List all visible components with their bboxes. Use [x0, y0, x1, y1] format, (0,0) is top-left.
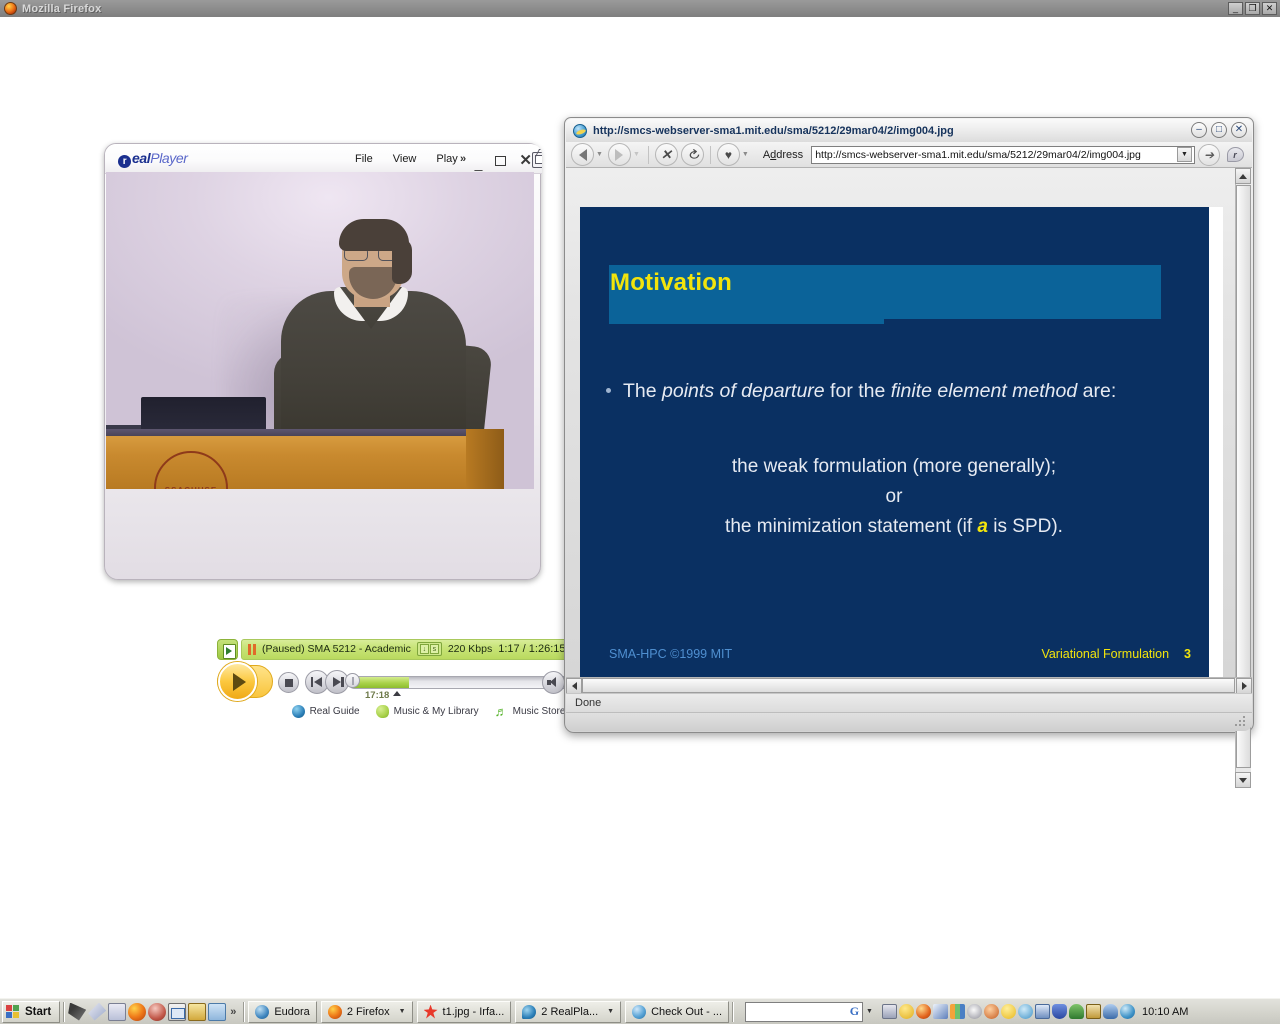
codec-badge-audio: s: [430, 644, 439, 654]
netscape-icon[interactable]: [88, 1003, 106, 1021]
seek-slider-handle[interactable]: [345, 673, 360, 688]
viewer-window-footer: [566, 713, 1252, 731]
taskbar-task-list: Eudora 2 Firefox ▼ t1.jpg - Irfa... 2 Re…: [248, 1001, 729, 1023]
link-real-guide[interactable]: Real Guide: [292, 705, 360, 718]
music-note-icon: ♬: [495, 705, 508, 718]
bullet-mid: for the: [825, 380, 891, 402]
network-icon[interactable]: [882, 1004, 897, 1019]
play-button[interactable]: [218, 662, 257, 701]
realplayer-logo-player: Player: [150, 150, 187, 166]
google-logo-icon: G: [850, 1004, 859, 1019]
stop-button[interactable]: ✕: [655, 143, 678, 166]
scroll-down-button[interactable]: [1235, 772, 1251, 788]
link-real-guide-label: Real Guide: [310, 706, 360, 717]
quick-launch-bar: [68, 1003, 226, 1021]
search-input[interactable]: G: [745, 1002, 863, 1022]
viewer-status-bar: Done: [566, 693, 1252, 713]
windows-taskbar: Start » Eudora 2 Firefox ▼ t1.jpg - Irfa…: [0, 998, 1280, 1024]
realplayer-status-bar: (Paused) SMA 5212 - Academic ↓s 220 Kbps…: [241, 639, 598, 660]
clip-title: SMA 5212 - Academic: [308, 643, 411, 655]
heart-icon: ♥: [725, 148, 732, 162]
maximize-button[interactable]: ❐: [1245, 2, 1260, 15]
viewer-titlebar: http://smcs-webserver-sma1.mit.edu/sma/5…: [566, 119, 1252, 142]
firefox-titlebar: Mozilla Firefox: [0, 0, 1280, 17]
antivirus-icon[interactable]: [1052, 1004, 1067, 1019]
smiley-icon[interactable]: [1001, 1004, 1016, 1019]
slide-title: Motivation: [610, 269, 732, 297]
realplayer-icon: [522, 1005, 536, 1019]
clip-state: (Paused): [262, 643, 305, 655]
maximize-button[interactable]: [495, 156, 506, 166]
menu-view[interactable]: View: [393, 153, 417, 165]
minimize-button[interactable]: –: [1191, 122, 1207, 138]
chart-icon[interactable]: [950, 1004, 965, 1019]
address-dropdown-caret[interactable]: ▼: [1177, 147, 1192, 162]
subline-3-variable: a: [977, 516, 988, 537]
screen-icon[interactable]: [1035, 1004, 1050, 1019]
task-button-irfanview[interactable]: t1.jpg - Irfa...: [417, 1001, 512, 1023]
irfanview-icon: [424, 1005, 438, 1019]
codec-badge-video: ↓: [420, 644, 429, 654]
realplayer-video-surface[interactable]: SSACHUSE: [106, 172, 534, 489]
browser-icon: [573, 124, 587, 138]
slide-sublines: the weak formulation (more generally); o…: [604, 452, 1184, 542]
taskbar-divider-3: [732, 1002, 734, 1022]
task-button-checkout[interactable]: Check Out - ...: [625, 1001, 729, 1023]
go-arrow-icon: ➔: [1204, 148, 1214, 162]
stop-button[interactable]: [278, 672, 299, 693]
monitor-icon[interactable]: [933, 1004, 948, 1019]
flock-icon[interactable]: [68, 1003, 86, 1021]
slide-footer-copyright: SMA-HPC ©1999 MIT: [609, 647, 732, 661]
task-button-irfanview-label: t1.jpg - Irfa...: [443, 1006, 505, 1018]
slide-bullet-text: The points of departure for the finite e…: [606, 376, 1146, 406]
task-group-caret[interactable]: ▼: [399, 1008, 406, 1015]
real-guide-icon: [292, 705, 305, 718]
menu-play[interactable]: Play: [436, 153, 457, 165]
realplayer-titlebar: realPlayer File View Play » _ ✕: [105, 144, 542, 174]
task-button-eudora-label: Eudora: [274, 1006, 309, 1018]
scroll-right-button[interactable]: [1236, 678, 1252, 694]
podium-side: [466, 429, 504, 489]
slide-subline-3: the minimization statement (if a is SPD)…: [604, 512, 1184, 542]
task-group-caret-2[interactable]: ▼: [607, 1008, 614, 1015]
task-button-eudora[interactable]: Eudora: [248, 1001, 316, 1023]
realplayer-logo-mark: r: [118, 155, 131, 168]
firefox-window-buttons[interactable]: _ ❐ ✕: [1228, 2, 1277, 15]
image-viewer-window: http://smcs-webserver-sma1.mit.edu/sma/5…: [564, 117, 1254, 733]
slide-page-number: 3: [1184, 647, 1191, 661]
search-dropdown-caret[interactable]: ▼: [866, 1008, 873, 1015]
subline-3-pre: the minimization statement (if: [725, 516, 977, 537]
person-icon[interactable]: [1103, 1004, 1118, 1019]
close-icon: ✕: [661, 147, 672, 163]
refresh-icon: ↻: [683, 144, 702, 165]
taskbar-divider: [63, 1002, 65, 1022]
clip-info-icon[interactable]: [217, 639, 238, 660]
slide-bullet-item: The points of departure for the finite e…: [606, 376, 1146, 406]
browser-icon[interactable]: [916, 1004, 931, 1019]
start-button-label: Start: [25, 1006, 51, 1018]
realplayer-toolbar-button[interactable]: r: [1223, 144, 1247, 166]
link-music-store[interactable]: ♬ Music Store: [495, 705, 566, 718]
toolbar-separator: [648, 146, 649, 164]
taskbar-divider-2: [243, 1002, 245, 1022]
clip-time-display: 1:17 / 1:26:15: [498, 643, 565, 655]
forward-button[interactable]: [608, 143, 631, 166]
slide-footer-section: Variational Formulation: [1041, 647, 1169, 661]
favorites-dropdown-caret[interactable]: ▼: [742, 151, 749, 158]
scroll-left-button[interactable]: [566, 678, 582, 694]
task-button-realplayer-label: 2 RealPla...: [541, 1006, 598, 1018]
paused-icon: [248, 644, 256, 655]
forward-dropdown-caret[interactable]: ▼: [633, 151, 640, 158]
system-tray: [882, 1004, 1135, 1019]
firefox-icon[interactable]: [128, 1003, 146, 1021]
minimize-button[interactable]: _: [475, 156, 483, 170]
bullet-emph-1: points of departure: [662, 380, 825, 402]
lecturer-hair-side: [392, 238, 412, 284]
seek-marker-icon: [393, 691, 401, 696]
windows-flag-icon: [6, 1005, 21, 1019]
window-icon[interactable]: [188, 1003, 206, 1021]
link-music-store-label: Music Store: [513, 706, 566, 717]
firefox-icon: [4, 2, 17, 15]
resize-grip-icon[interactable]: [1235, 716, 1247, 728]
task-button-firefox[interactable]: 2 Firefox ▼: [321, 1001, 413, 1023]
realplayer-menubar[interactable]: File View Play: [355, 153, 458, 165]
image-canvas: Motivation The points of departure for t…: [580, 207, 1223, 696]
music-library-icon: [376, 705, 389, 718]
realplayer-window-buttons[interactable]: _ ✕: [475, 153, 532, 168]
menu-overflow-chevron[interactable]: »: [460, 153, 466, 165]
disc-icon[interactable]: [967, 1004, 982, 1019]
viewer-status-text: Done: [575, 697, 601, 709]
task-button-checkout-label: Check Out - ...: [651, 1006, 722, 1018]
horizontal-scroll-thumb[interactable]: [582, 678, 1235, 693]
ie-icon: [632, 1005, 646, 1019]
compass-icon[interactable]: [1120, 1004, 1135, 1019]
slide-footer-right: Variational Formulation 3: [1041, 647, 1191, 661]
refresh-button[interactable]: ↻: [681, 143, 704, 166]
back-button[interactable]: [571, 143, 594, 166]
camera-icon[interactable]: [1086, 1004, 1101, 1019]
bullet-tail: are:: [1077, 380, 1116, 402]
image-icon[interactable]: [208, 1003, 226, 1021]
firefox-icon: [328, 1005, 342, 1019]
subline-3-post: is SPD).: [988, 516, 1063, 537]
volume-icon[interactable]: [542, 671, 565, 694]
clip-bitrate: 220 Kbps: [448, 643, 492, 655]
start-button[interactable]: Start: [2, 1001, 60, 1023]
bullet-dot-icon: [606, 388, 611, 393]
addressbook-icon[interactable]: [108, 1003, 126, 1021]
address-input-value: http://smcs-webserver-sma1.mit.edu/sma/5…: [815, 149, 1177, 161]
bullet-lead: The: [623, 380, 662, 402]
sync-icon[interactable]: [984, 1004, 999, 1019]
viewer-toolbar: ▼ ▼ ✕ ↻ ♥ ▼ Address http://smcs-webserve…: [566, 142, 1252, 168]
mit-seal-text: SSACHUSE: [150, 486, 232, 489]
bullet-emph-2: finite element method: [891, 380, 1077, 402]
link-music-library-label: Music & My Library: [394, 706, 479, 717]
task-button-firefox-label: 2 Firefox: [347, 1006, 390, 1018]
close-button[interactable]: ✕: [519, 153, 532, 168]
close-button[interactable]: ✕: [1262, 2, 1277, 15]
link-music-library[interactable]: Music & My Library: [376, 705, 479, 718]
dock-window-icon[interactable]: [532, 152, 542, 168]
realplayer-logo-real: eal: [132, 150, 150, 166]
realplayer-logo: realPlayer: [118, 150, 188, 168]
slide-image: Motivation The points of departure for t…: [580, 207, 1209, 685]
eudora-icon: [255, 1005, 269, 1019]
address-label: Address: [763, 149, 803, 161]
favorites-button[interactable]: ♥: [717, 143, 740, 166]
close-button[interactable]: ✕: [1231, 122, 1247, 138]
viewer-window-title: http://smcs-webserver-sma1.mit.edu/sma/5…: [593, 125, 954, 137]
toolbar-separator-2: [710, 146, 711, 164]
horizontal-scrollbar[interactable]: [566, 677, 1252, 693]
ebay-icon[interactable]: [148, 1003, 166, 1021]
address-input[interactable]: http://smcs-webserver-sma1.mit.edu/sma/5…: [811, 146, 1195, 164]
go-button[interactable]: ➔: [1198, 144, 1220, 166]
task-button-realplayer[interactable]: 2 RealPla... ▼: [515, 1001, 621, 1023]
slide-title-band-notch: [609, 312, 884, 324]
shield-icon[interactable]: [899, 1004, 914, 1019]
back-dropdown-caret[interactable]: ▼: [596, 151, 603, 158]
minimize-button[interactable]: _: [1228, 2, 1243, 15]
clip-state-and-title: (Paused) SMA 5212 - Academic: [262, 643, 411, 655]
firefox-window-title: Mozilla Firefox: [22, 3, 101, 15]
maximize-button[interactable]: □: [1211, 122, 1227, 138]
realplayer-icon: r: [1227, 147, 1244, 162]
tree-icon[interactable]: [1069, 1004, 1084, 1019]
codec-badges-icon: ↓s: [417, 642, 442, 656]
quick-launch-overflow-chevron[interactable]: »: [230, 1006, 236, 1018]
media-icon[interactable]: [1018, 1004, 1033, 1019]
viewer-window-buttons[interactable]: – □ ✕: [1191, 122, 1247, 138]
slide-subline-1: the weak formulation (more generally);: [604, 452, 1184, 482]
slide-subline-2: or: [604, 482, 1184, 512]
firefox-root-window: Mozilla Firefox _ ❐ ✕ realPlayer File Vi…: [0, 0, 1280, 998]
taskbar-clock[interactable]: 10:10 AM: [1142, 1006, 1188, 1018]
mail-icon[interactable]: [168, 1003, 186, 1021]
scroll-up-button[interactable]: [1235, 168, 1251, 184]
seek-time-tooltip: 17:18: [365, 690, 389, 701]
menu-file[interactable]: File: [355, 153, 373, 165]
